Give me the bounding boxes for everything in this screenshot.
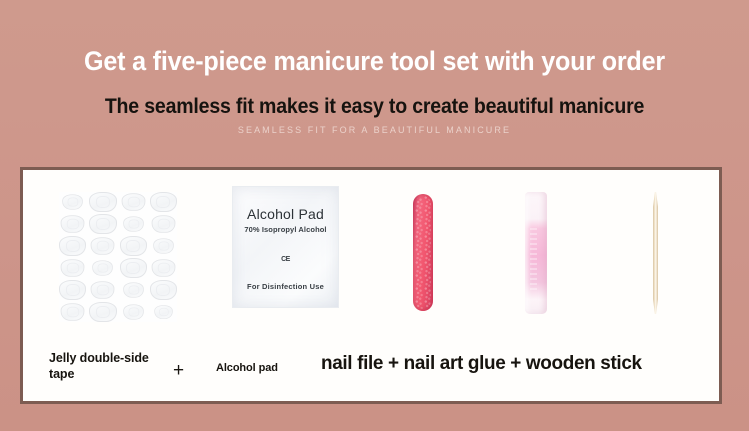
ce-mark-icon: CE: [281, 256, 290, 263]
tape-tab: [123, 282, 144, 297]
caption-alcohol-pad: Alcohol pad: [216, 362, 278, 374]
product-nail-art-glue: [483, 170, 613, 342]
jelly-tape-sheet-icon: [59, 192, 177, 322]
caption-jelly-tape: Jelly double-side tape: [49, 350, 169, 382]
caption-plus-separator: +: [173, 360, 184, 382]
alcohol-pad-footer: For Disinfection Use: [247, 282, 324, 291]
tape-tab: [120, 258, 147, 278]
tape-tab: [154, 305, 173, 319]
nail-art-glue-icon: [525, 192, 547, 314]
product-panel-inner: Alcohol Pad 70% Isopropyl Alcohol CE For…: [23, 170, 719, 401]
tape-tab: [123, 304, 144, 319]
wooden-stick-icon: [653, 192, 658, 314]
tape-tab: [120, 236, 147, 256]
product-nail-file: [375, 170, 495, 342]
tape-tab: [91, 281, 115, 299]
tape-tab: [89, 214, 116, 234]
alcohol-pad-package-icon: Alcohol Pad 70% Isopropyl Alcohol CE For…: [232, 186, 339, 308]
tape-tab: [59, 236, 86, 256]
alcohol-pad-title: Alcohol Pad: [247, 206, 324, 222]
product-wooden-stick: [603, 170, 713, 342]
page-subtitle: The seamless fit makes it easy to create…: [26, 94, 723, 120]
tape-tab: [91, 237, 115, 255]
tape-tab: [121, 193, 145, 211]
tape-tab: [61, 259, 85, 277]
tape-tab: [150, 192, 177, 212]
tape-tab: [93, 260, 114, 275]
caption-remaining-tools: nail file + nail art glue + wooden stick: [321, 350, 642, 376]
tape-tab: [150, 280, 177, 300]
tape-tab: [151, 215, 175, 233]
product-jelly-double-side-tape: [37, 170, 197, 342]
tape-tab: [59, 280, 86, 300]
tape-tab: [61, 303, 85, 321]
product-caption-row: Jelly double-side tape + Alcohol pad nai…: [23, 342, 719, 401]
product-panel: Alcohol Pad 70% Isopropyl Alcohol CE For…: [20, 167, 722, 404]
product-row: Alcohol Pad 70% Isopropyl Alcohol CE For…: [23, 170, 719, 342]
headline-block: Get a five-piece manicure tool set with …: [0, 44, 749, 137]
alcohol-pad-subtitle: 70% Isopropyl Alcohol: [244, 225, 326, 234]
nail-file-icon: [413, 194, 433, 311]
tape-tab: [61, 215, 85, 233]
product-alcohol-pad: Alcohol Pad 70% Isopropyl Alcohol CE For…: [208, 170, 368, 342]
promo-banner: Get a five-piece manicure tool set with …: [0, 0, 749, 431]
tape-tab: [151, 259, 175, 277]
tape-tab: [89, 302, 116, 322]
micro-caption: SEAMLESS FIT FOR A BEAUTIFUL MANICURE: [0, 124, 749, 137]
tape-tab: [62, 194, 83, 209]
tape-tab: [89, 192, 116, 212]
page-title: Get a five-piece manicure tool set with …: [26, 44, 723, 78]
tape-tab: [123, 216, 144, 231]
tape-tab: [153, 238, 174, 253]
